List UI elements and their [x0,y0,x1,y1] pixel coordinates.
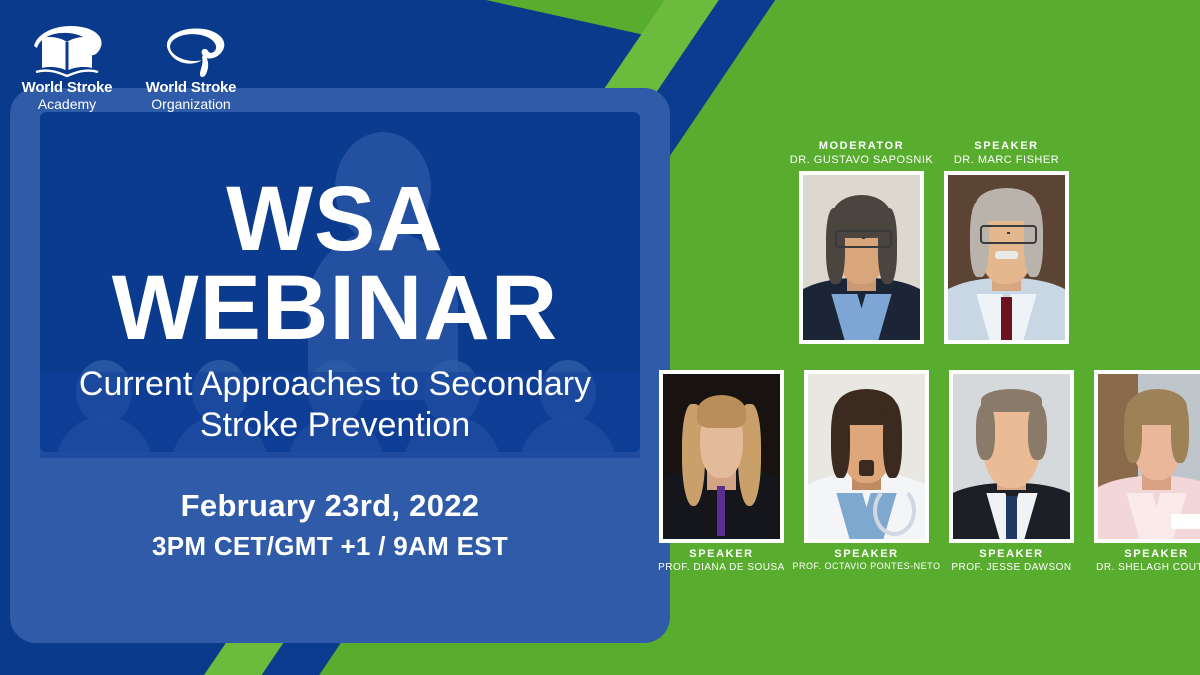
portrait-diana-de-sousa [663,374,780,539]
logo-organization-line2: Organization [151,96,230,112]
webinar-promo-graphic: World Stroke Academy World Stroke Organi… [0,0,1200,675]
speaker-role: SPEAKER [1124,548,1188,560]
speaker-name: DR. SHELAGH COUTTS [1096,562,1200,573]
logo-world-stroke-academy: World Stroke Academy [12,24,122,112]
speaker-photo-frame [949,370,1074,543]
portrait-marc-fisher [948,175,1065,340]
event-time: 3PM CET/GMT +1 / 9AM EST [0,531,660,562]
brain-swirl-icon [148,24,234,80]
logo-world-stroke-organization: World Stroke Organization [136,24,246,112]
speaker-photo-frame [799,171,924,344]
speaker-row-bottom: SPEAKER PROF. DIANA DE SOUSA [655,370,1200,573]
speaker-role: SPEAKER [689,548,753,560]
portrait-gustavo-saposnik [803,175,920,340]
headline-block: WSA WEBINAR Current Approaches to Second… [0,176,670,446]
speaker-photo-frame [1094,370,1200,543]
speaker-card-jesse-dawson[interactable]: SPEAKER PROF. JESSE DAWSON [945,370,1078,573]
speaker-card-shelagh-coutts[interactable]: SPEAKER DR. SHELAGH COUTTS [1090,370,1200,573]
speaker-role: SPEAKER [974,140,1038,152]
logo-academy-line1: World Stroke [22,80,113,96]
speaker-photo-frame [804,370,929,543]
open-book-brain-icon [24,24,110,80]
speaker-role: SPEAKER [834,548,898,560]
portrait-shelagh-coutts [1098,374,1200,539]
portrait-jesse-dawson [953,374,1070,539]
speaker-role: SPEAKER [979,548,1043,560]
speaker-name: PROF. JESSE DAWSON [951,562,1071,573]
logo-group: World Stroke Academy World Stroke Organi… [12,24,246,112]
speaker-role: MODERATOR [819,140,905,152]
speaker-name: PROF. OCTAVIO PONTES-NETO [793,562,941,572]
speaker-name: DR. MARC FISHER [954,154,1059,166]
speaker-card-marc-fisher[interactable]: SPEAKER DR. MARC FISHER [940,140,1073,344]
title-line-webinar: WEBINAR [0,263,670,353]
speaker-card-octavio-pontes-neto[interactable]: SPEAKER PROF. OCTAVIO PONTES-NETO [800,370,933,573]
speaker-card-gustavo-saposnik[interactable]: MODERATOR DR. GUSTAVO SAPOSNIK [795,140,928,344]
subtitle-line-2: Stroke Prevention [0,405,670,446]
speaker-name: PROF. DIANA DE SOUSA [658,562,785,573]
portrait-octavio-pontes-neto [808,374,925,539]
logo-academy-line2: Academy [38,96,96,112]
speaker-grid: MODERATOR DR. GUSTAVO SAPOSNIK [655,140,1200,590]
speaker-photo-frame [944,171,1069,344]
event-date: February 23rd, 2022 [0,488,660,524]
logo-organization-line1: World Stroke [146,80,237,96]
speaker-card-diana-de-sousa[interactable]: SPEAKER PROF. DIANA DE SOUSA [655,370,788,573]
title-line-wsa: WSA [0,176,670,263]
subtitle-line-1: Current Approaches to Secondary [0,364,670,405]
speaker-row-top: MODERATOR DR. GUSTAVO SAPOSNIK [795,140,1073,344]
speaker-name: DR. GUSTAVO SAPOSNIK [790,154,933,166]
speaker-photo-frame [659,370,784,543]
